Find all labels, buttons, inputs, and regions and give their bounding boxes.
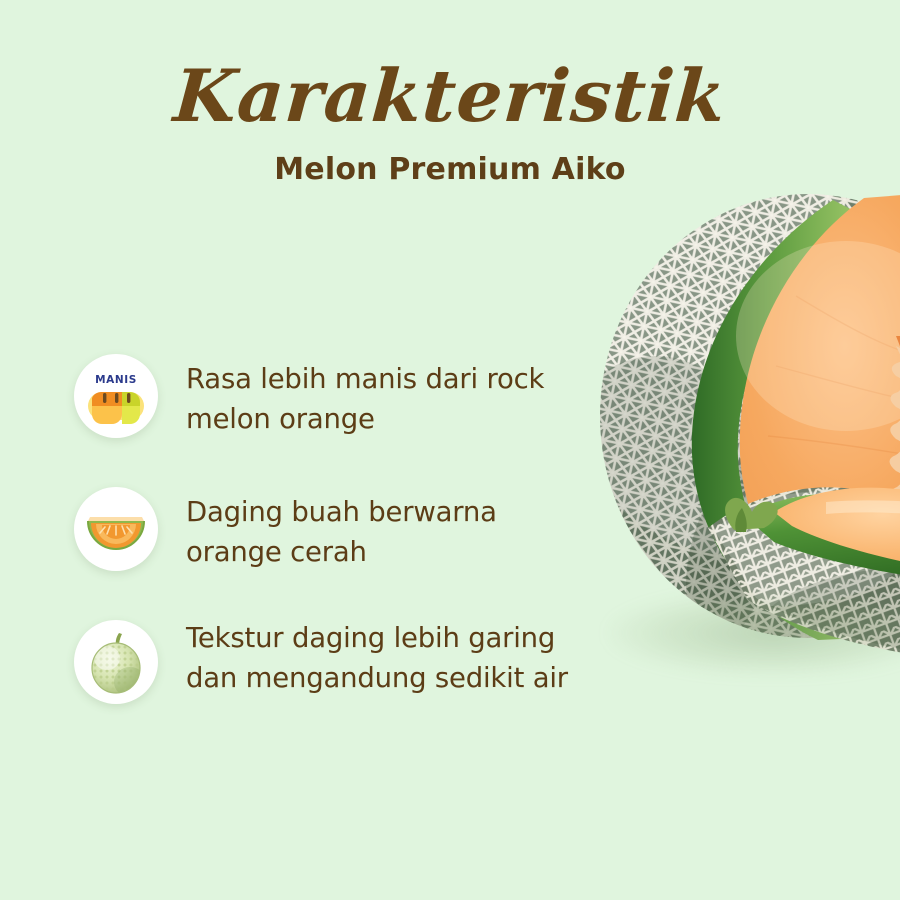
- melon-slice-glyph: [74, 487, 158, 571]
- sweetness-meter-glyph: MANIS: [74, 354, 158, 438]
- header-block: Karakteristik Melon Premium Aiko: [0, 54, 900, 188]
- feature-text: Daging buah berwarna orange cerah: [186, 485, 586, 572]
- list-item: Daging buah berwarna orange cerah: [74, 485, 594, 572]
- page-title: Karakteristik: [0, 54, 900, 138]
- melon-rind-group: [596, 186, 900, 706]
- melon-illustration: [596, 186, 900, 706]
- melon-seed-cavity: [889, 336, 900, 586]
- poster-canvas: Karakteristik Melon Premium Aiko: [0, 0, 900, 900]
- feature-list: MANIS Rasa lebih manis dari rock melon o…: [74, 352, 594, 704]
- melon-wedge-slice: [636, 466, 900, 706]
- sweetness-meter-icon: MANIS: [74, 354, 158, 438]
- melon-flesh-group: [692, 186, 900, 656]
- page-subtitle: Melon Premium Aiko: [0, 152, 900, 188]
- feature-text: Tekstur daging lebih garing dan mengandu…: [186, 618, 586, 698]
- whole-melon-icon: [74, 620, 158, 704]
- halved-rock-melon-photo: [596, 186, 900, 706]
- melon-drop-shadow: [608, 590, 900, 676]
- feature-text: Rasa lebih manis dari rock melon orange: [186, 352, 586, 439]
- list-item: MANIS Rasa lebih manis dari rock melon o…: [74, 352, 594, 439]
- melon-slice-icon: [74, 487, 158, 571]
- list-item: Tekstur daging lebih garing dan mengandu…: [74, 618, 594, 704]
- sweetness-meter-label: MANIS: [95, 374, 137, 386]
- whole-melon-glyph: [74, 620, 158, 704]
